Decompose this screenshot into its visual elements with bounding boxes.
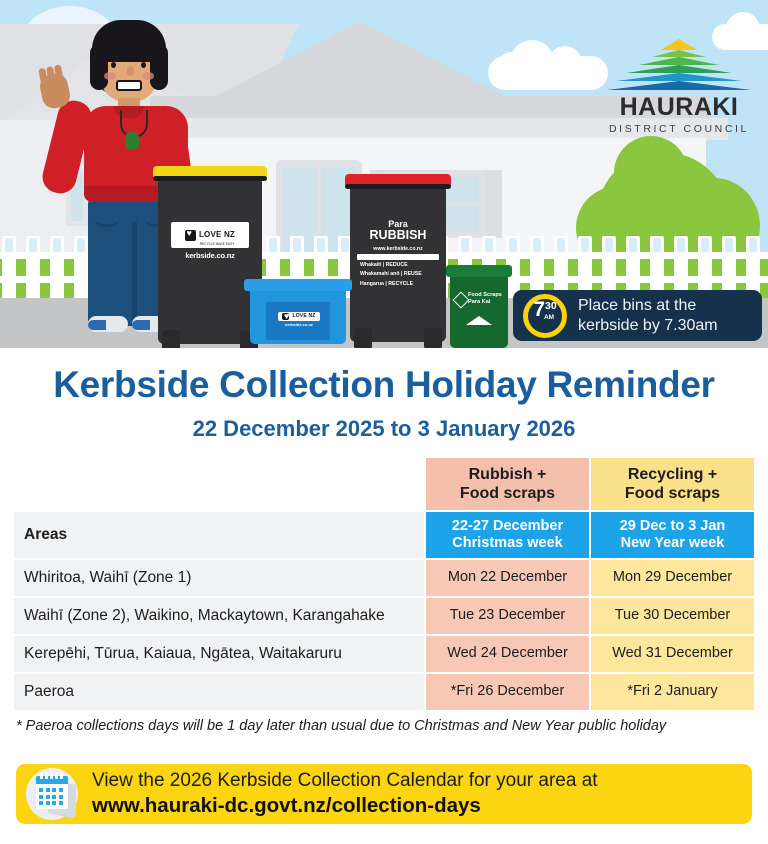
table-footnote: * Paeroa collections days will be 1 day …	[16, 718, 756, 734]
column-header-recycling-line1: Recycling +	[595, 465, 750, 484]
fence-picket	[578, 236, 592, 298]
column-header-recycling: Recycling + Food scraps	[591, 458, 754, 510]
logo-subtitle: DISTRICT COUNCIL	[604, 124, 754, 135]
mountain-icon	[466, 316, 492, 325]
rubbish-wheelie-bin: Para RUBBISH www.kerbside.co.nz Whakaiti…	[350, 186, 446, 342]
badge-line-1: Place bins at the	[578, 296, 718, 316]
crate-brand: LOVE NZ	[292, 314, 315, 319]
recycle-icon	[453, 292, 470, 309]
row-area-4: Paeroa	[14, 674, 424, 710]
row-area-3: Kerepēhi, Tūrua, Kaiaua, Ngātea, Waitaka…	[14, 636, 424, 672]
person-cheek	[142, 72, 154, 80]
row-rubbish-2: Tue 23 December	[426, 598, 589, 634]
caddy-hauraki-logo: HAURAKI DISTRICT COUNCIL	[464, 316, 494, 348]
mountain-icon	[604, 36, 754, 94]
hero-illustration: LOVE NZ RECYCLE MADE EASY kerbside.co.nz…	[0, 0, 768, 348]
rubbish-item-reduce: Whakaiti | REDUCE	[357, 262, 439, 270]
row-rubbish-1: Mon 22 December	[426, 560, 589, 596]
hauraki-district-council-logo: HAURAKI DISTRICT COUNCIL	[604, 36, 754, 135]
row-area-1: Whiritoa, Waihī (Zone 1)	[14, 560, 424, 596]
fence-picket	[746, 236, 760, 298]
badge-text: Place bins at the kerbside by 7.30am	[578, 296, 718, 336]
pounamu-pendant-icon	[125, 132, 139, 150]
person-eye	[141, 62, 146, 68]
week-header-newyear-label: New Year week	[595, 535, 750, 552]
row-rubbish-3: Wed 24 December	[426, 636, 589, 672]
table-header-type-row: Rubbish + Food scraps Recycling + Food s…	[14, 458, 754, 510]
banner-url[interactable]: www.hauraki-dc.govt.nz/collection-days	[92, 793, 598, 819]
place-bins-time-badge: 7 30 AM Place bins at the kerbside by 7.…	[513, 290, 762, 341]
person-eye	[111, 62, 116, 68]
fence-picket	[674, 236, 688, 298]
rubbish-bin-label: Para RUBBISH www.kerbside.co.nz Whakaiti…	[357, 220, 439, 289]
week-header-christmas: 22-27 December Christmas week	[426, 512, 589, 558]
caddy-label-mi: Para Kai	[468, 299, 502, 306]
person-shoe	[88, 316, 128, 332]
blue-recycling-crate: LOVE NZ kerbside.co.nz	[250, 286, 346, 344]
heart-icon	[282, 313, 289, 320]
row-area-2: Waihī (Zone 2), Waikino, Mackaytown, Kar…	[14, 598, 424, 634]
jeans-pocket	[94, 208, 120, 227]
collection-schedule-table: Rubbish + Food scraps Recycling + Food s…	[14, 458, 754, 712]
table-row: Whiritoa, Waihī (Zone 1) Mon 22 December…	[14, 560, 754, 596]
banner-line-1: View the 2026 Kerbside Collection Calend…	[92, 769, 598, 793]
love-nz-tagline: RECYCLE MADE EASY	[199, 243, 235, 246]
row-recycling-3: Wed 31 December	[591, 636, 754, 672]
fence-picket	[554, 236, 568, 298]
calendar-callout-banner[interactable]: View the 2026 Kerbside Collection Calend…	[16, 764, 752, 824]
person-hair	[92, 20, 166, 62]
food-scraps-caddy: Food Scraps Para Kai HAURAKI DISTRICT CO…	[450, 272, 508, 348]
page-subtitle: 22 December 2025 to 3 January 2026	[0, 416, 768, 442]
window-shutter	[486, 170, 502, 238]
column-header-rubbish-line2: Food scraps	[430, 484, 585, 503]
week-header-christmas-dates: 22-27 December	[430, 518, 585, 535]
table-row: Kerepēhi, Tūrua, Kaiaua, Ngātea, Waitaka…	[14, 636, 754, 672]
love-nz-label: LOVE NZ RECYCLE MADE EASY kerbside.co.nz	[171, 222, 249, 260]
rubbish-bin-url: www.kerbside.co.nz	[357, 246, 439, 252]
person-eyebrow	[136, 54, 150, 58]
badge-meridiem: AM	[544, 314, 554, 321]
love-nz-brand: LOVE NZ	[199, 230, 235, 239]
clock-icon: 7 30 AM	[523, 294, 567, 338]
kerbside-url: kerbside.co.nz	[171, 251, 249, 260]
logo-name: HAURAKI	[604, 95, 754, 120]
recycling-wheelie-bin: LOVE NZ RECYCLE MADE EASY kerbside.co.nz	[158, 178, 262, 344]
row-recycling-4: *Fri 2 January	[591, 674, 754, 710]
row-rubbish-4: *Fri 26 December	[426, 674, 589, 710]
table-header-week-row: Areas 22-27 December Christmas week 29 D…	[14, 512, 754, 558]
week-header-newyear: 29 Dec to 3 Jan New Year week	[591, 512, 754, 558]
table-corner-blank	[14, 458, 424, 510]
rubbish-label-rubbish: RUBBISH	[357, 229, 439, 242]
fence-picket	[722, 236, 736, 298]
fence-picket	[602, 236, 616, 298]
poster: LOVE NZ RECYCLE MADE EASY kerbside.co.nz…	[0, 0, 768, 844]
person-eyebrow	[106, 54, 120, 58]
fence-picket	[698, 236, 712, 298]
banner-text: View the 2026 Kerbside Collection Calend…	[92, 769, 598, 818]
week-header-newyear-dates: 29 Dec to 3 Jan	[595, 518, 750, 535]
calendar-icon	[26, 768, 78, 820]
fence-picket	[2, 236, 16, 298]
crate-url: kerbside.co.nz	[278, 322, 320, 327]
table-row: Waihī (Zone 2), Waikino, Mackaytown, Kar…	[14, 598, 754, 634]
caddy-label: Food Scraps Para Kai	[468, 292, 502, 306]
week-header-christmas-label: Christmas week	[430, 535, 585, 552]
areas-column-header: Areas	[14, 512, 424, 558]
badge-line-2: kerbside by 7.30am	[578, 316, 718, 336]
column-header-recycling-line2: Food scraps	[595, 484, 750, 503]
fence-picket	[530, 236, 544, 298]
row-recycling-1: Mon 29 December	[591, 560, 754, 596]
fence-picket	[626, 236, 640, 298]
badge-minutes: 30	[545, 301, 557, 312]
person-nose	[127, 66, 134, 76]
table-row: Paeroa *Fri 26 December *Fri 2 January	[14, 674, 754, 710]
column-header-rubbish-line1: Rubbish +	[430, 465, 585, 484]
rubbish-item-recycle: Hangarua | RECYCLE	[357, 281, 439, 289]
person-leg-seam	[132, 222, 137, 326]
person-smile	[116, 80, 142, 91]
person-cheek	[104, 72, 116, 80]
heart-icon	[185, 230, 196, 241]
column-header-rubbish: Rubbish + Food scraps	[426, 458, 589, 510]
rubbish-item-reuse: Whakamahi anō | REUSE	[357, 271, 439, 279]
fence-picket	[650, 236, 664, 298]
caddy-label-en: Food Scraps	[468, 292, 502, 299]
page-title: Kerbside Collection Holiday Reminder	[0, 364, 768, 406]
caddy-lid	[446, 265, 512, 277]
row-recycling-2: Tue 30 December	[591, 598, 754, 634]
fence-picket	[26, 236, 40, 298]
